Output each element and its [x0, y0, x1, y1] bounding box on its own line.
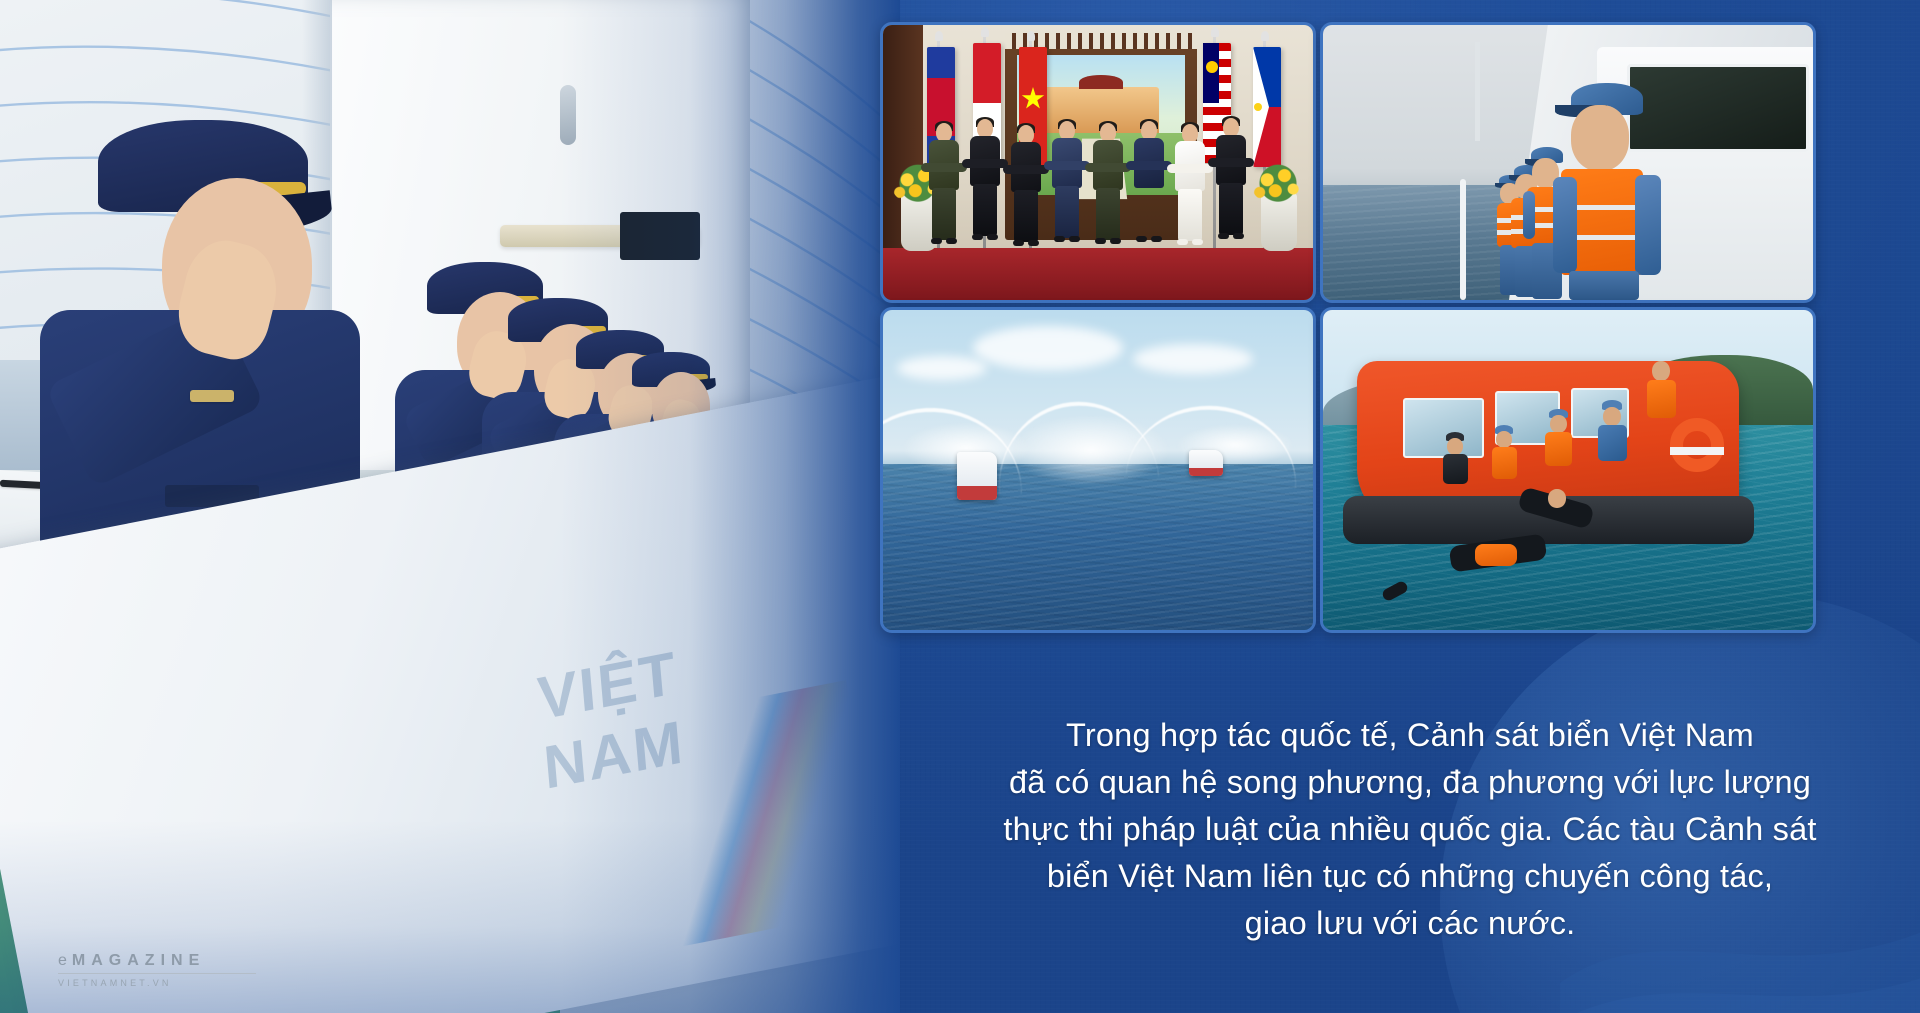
deck-rail: [1460, 179, 1466, 300]
sailor-legs: [1569, 271, 1639, 300]
crew-jacket: [1443, 454, 1468, 484]
coast-guard-ship-far: [1189, 450, 1223, 476]
caption-block: Trong hợp tác quốc tế, Cảnh sát biển Việ…: [900, 712, 1920, 947]
official-legs: [1055, 186, 1079, 238]
watermark-brand: eMAGAZINE: [58, 952, 298, 970]
official-arm: [921, 163, 967, 172]
official-arm: [1126, 161, 1172, 170]
flag-philippines: [1253, 47, 1281, 167]
crew-member-2: [1544, 409, 1574, 477]
official-legs: [973, 184, 997, 236]
official-shoe-left: [1177, 239, 1188, 245]
official-shoe-left: [1054, 236, 1065, 242]
gallery-photo-asean-meeting[interactable]: [880, 22, 1316, 303]
official-shoe-right: [946, 238, 957, 244]
official-shoe-left: [931, 238, 942, 244]
crew-life-vest: [1545, 432, 1572, 466]
crew-head: [1652, 361, 1670, 381]
crew-member-1: [1490, 425, 1520, 489]
red-carpet: [883, 248, 1313, 300]
crew-head: [1550, 415, 1567, 433]
official-shoe-right: [1233, 233, 1244, 239]
yellow-flowers-right: [1251, 163, 1305, 205]
gallery-photo-water-cannon-ships[interactable]: [880, 307, 1316, 633]
caption-line-2: đã có quan hệ song phương, đa phương với…: [918, 759, 1902, 806]
crew-member-3: [1597, 400, 1629, 470]
official-arm: [1003, 165, 1049, 174]
watermark-site: VIETNAMNET.VN: [58, 978, 298, 988]
official-shoe-right: [987, 234, 998, 240]
official-legs: [1178, 189, 1202, 241]
official-legs: [1014, 190, 1038, 242]
official-shoe-left: [1013, 240, 1024, 246]
official-legs: [1219, 183, 1243, 235]
photo-rescue-content: [1323, 310, 1813, 630]
caption-line-5: giao lưu với các nước.: [918, 900, 1902, 947]
officer-rank-insignia: [190, 390, 234, 402]
photo-sailors-content: [1323, 25, 1813, 300]
cloud-2: [1133, 344, 1253, 374]
official-shoe-left: [972, 234, 983, 240]
sailor-head: [1571, 105, 1629, 171]
caption-line-1: Trong hợp tác quốc tế, Cảnh sát biển Việ…: [918, 712, 1902, 759]
watermark-divider: [58, 973, 256, 974]
crew-life-vest: [1492, 447, 1517, 479]
caption-line-4: biển Việt Nam liên tục có những chuyến c…: [918, 853, 1902, 900]
crew-camo-uniform: [1598, 425, 1627, 461]
gallery-photo-sea-rescue-drill[interactable]: [1320, 307, 1816, 633]
watermark-brand-main: MAGAZINE: [72, 952, 205, 969]
caption-line-3: thực thi pháp luật của nhiều quốc gia. C…: [918, 806, 1902, 853]
crew-head: [1603, 407, 1621, 426]
photo-water-cannon-content: [883, 310, 1313, 630]
crew-life-vest: [1647, 380, 1676, 418]
official-legs: [1096, 188, 1120, 240]
right-blue-panel: Trong hợp tác quốc tế, Cảnh sát biển Việ…: [900, 0, 1920, 1013]
crew-head: [1447, 438, 1463, 455]
official-arm: [1085, 163, 1131, 172]
water-spray-2: [1011, 414, 1171, 486]
crew-member-5-kneeling: [1441, 432, 1471, 494]
cloud-3: [897, 356, 987, 380]
official-shoe-left: [1218, 233, 1229, 239]
official-shoe-right: [1151, 236, 1162, 242]
hero-photo: VIỆT NAM eMAGAZINE VIETNAMNET.VN: [0, 0, 900, 1013]
photo-grid: [890, 22, 1910, 672]
official-shoe-right: [1028, 240, 1039, 246]
sailor-arm-right: [1635, 175, 1661, 275]
crew-head: [1496, 431, 1512, 448]
official-arm: [1044, 161, 1090, 170]
photo-asean-content: [883, 25, 1313, 300]
cloud-1: [973, 326, 1123, 370]
emagazine-page: VIỆT NAM eMAGAZINE VIETNAMNET.VN: [0, 0, 1920, 1013]
official-shoe-left: [1136, 236, 1147, 242]
sailor-1-front: [1555, 83, 1665, 300]
watermark: eMAGAZINE VIETNAMNET.VN: [58, 952, 298, 988]
gallery-photo-sailors-on-deck[interactable]: [1320, 22, 1816, 303]
sailor-arm: [1523, 191, 1535, 239]
watermark-brand-prefix: e: [58, 952, 72, 969]
official-shoe-right: [1192, 239, 1203, 245]
victim-life-vest: [1475, 544, 1517, 566]
official-legs: [932, 188, 956, 240]
official-arm: [962, 159, 1008, 168]
drill-victim-1-vest: [1475, 544, 1517, 566]
official-shoe-left: [1095, 238, 1106, 244]
official-shoe-right: [1069, 236, 1080, 242]
sailor-arm-left: [1553, 177, 1577, 273]
coast-guard-ship-near: [957, 452, 997, 500]
official-arm: [1208, 158, 1254, 167]
crew-member-4: [1646, 361, 1678, 435]
ship-mast: [1475, 42, 1480, 141]
official-shoe-right: [1110, 238, 1121, 244]
official-legs: [1137, 186, 1161, 238]
official-arm: [1167, 164, 1213, 173]
